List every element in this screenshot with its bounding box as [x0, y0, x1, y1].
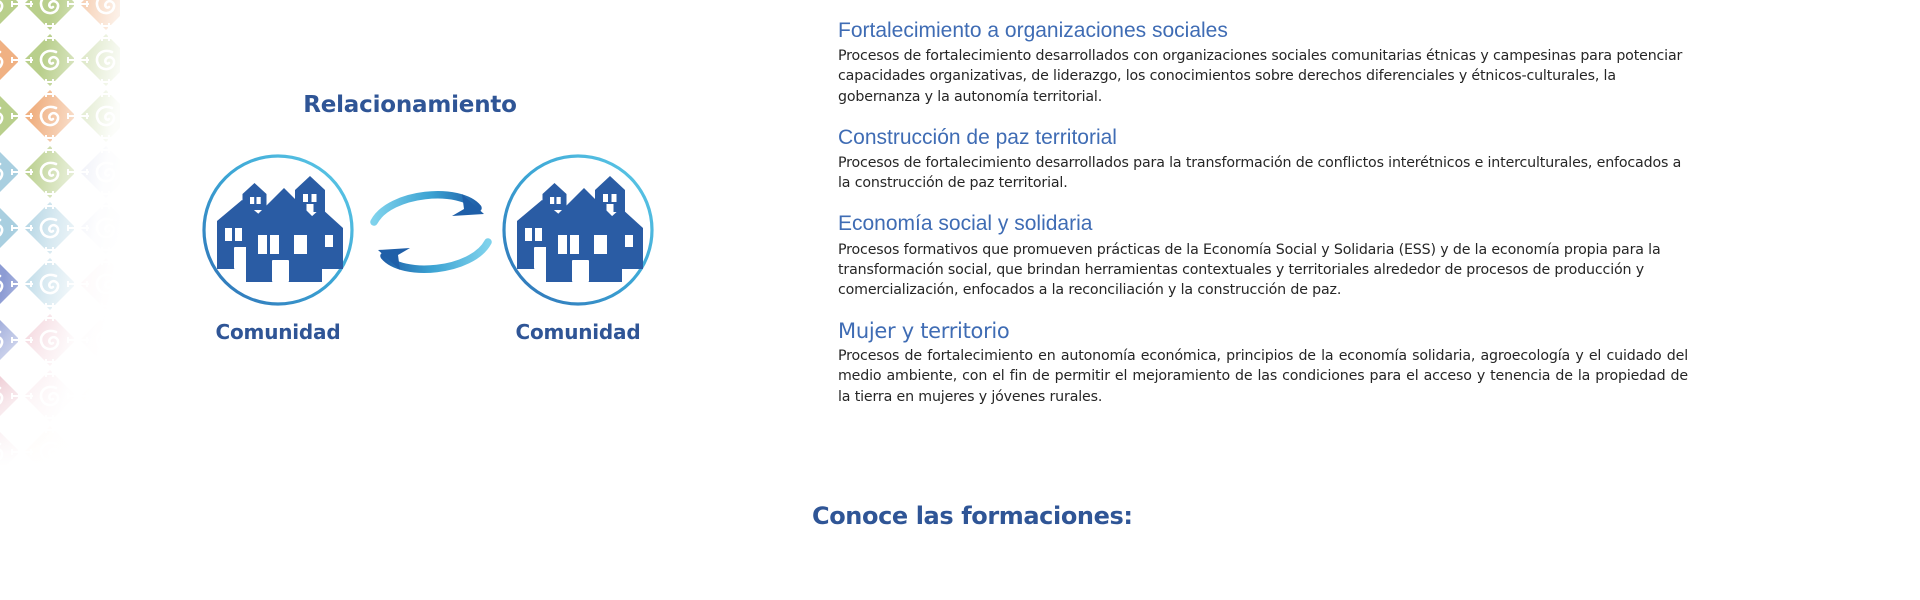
pattern-tile — [0, 368, 22, 424]
pattern-tile — [78, 312, 120, 368]
pattern-tile — [22, 32, 78, 88]
pattern-tile — [22, 144, 78, 200]
pattern-tile — [0, 200, 22, 256]
cycle-arrows-icon — [366, 178, 496, 288]
pattern-tile — [0, 312, 22, 368]
houses-community-icon — [198, 150, 358, 310]
pattern-tile — [0, 256, 22, 312]
diagram-title: Relacionamiento — [130, 92, 690, 118]
relacionamiento-diagram: Relacionamiento — [130, 70, 690, 370]
pattern-tile — [22, 312, 78, 368]
pattern-tile — [0, 32, 22, 88]
section-body: Procesos de fortalecimiento desarrollado… — [838, 153, 1688, 193]
community-label-right: Comunidad — [463, 320, 693, 344]
pattern-tile — [78, 32, 120, 88]
pattern-tile — [0, 88, 22, 144]
slide-canvas: Relacionamiento — [0, 0, 1920, 600]
section-body: Procesos formativos que promueven prácti… — [838, 240, 1688, 300]
pattern-tile — [78, 256, 120, 312]
pattern-tile — [78, 200, 120, 256]
section-mujer-territorio: Mujer y territorio Procesos de fortaleci… — [838, 318, 1688, 407]
pattern-tile — [78, 88, 120, 144]
pattern-tile — [22, 256, 78, 312]
pattern-tile — [0, 424, 22, 480]
section-title: Economía social y solidaria — [838, 211, 1688, 237]
pattern-tile — [0, 0, 22, 32]
section-construccion-paz: Construcción de paz territorial Procesos… — [838, 125, 1688, 194]
houses-community-icon — [498, 150, 658, 310]
conoce-las-formaciones-heading: Conoce las formaciones: — [812, 502, 1133, 530]
section-economia-social: Economía social y solidaria Procesos for… — [838, 211, 1688, 300]
ethnic-pattern-decoration — [0, 0, 120, 480]
formaciones-sections: Fortalecimiento a organizaciones sociale… — [838, 18, 1688, 407]
pattern-tile — [0, 144, 22, 200]
section-body: Procesos de fortalecimiento en autonomía… — [838, 346, 1688, 406]
pattern-tile — [22, 200, 78, 256]
section-fortalecimiento: Fortalecimiento a organizaciones sociale… — [838, 18, 1688, 107]
community-label-left: Comunidad — [163, 320, 393, 344]
section-body: Procesos de fortalecimiento desarrollado… — [838, 46, 1688, 106]
pattern-tile — [78, 424, 120, 480]
community-node-left — [198, 150, 358, 310]
section-title: Construcción de paz territorial — [838, 125, 1688, 151]
pattern-tile — [78, 0, 120, 32]
section-title: Mujer y territorio — [838, 318, 1688, 344]
pattern-tile — [22, 424, 78, 480]
pattern-tile — [22, 0, 78, 32]
section-title: Fortalecimiento a organizaciones sociale… — [838, 18, 1688, 44]
pattern-tile — [78, 368, 120, 424]
pattern-tile — [22, 368, 78, 424]
community-node-right — [498, 150, 658, 310]
pattern-tile — [78, 144, 120, 200]
pattern-tile — [22, 88, 78, 144]
